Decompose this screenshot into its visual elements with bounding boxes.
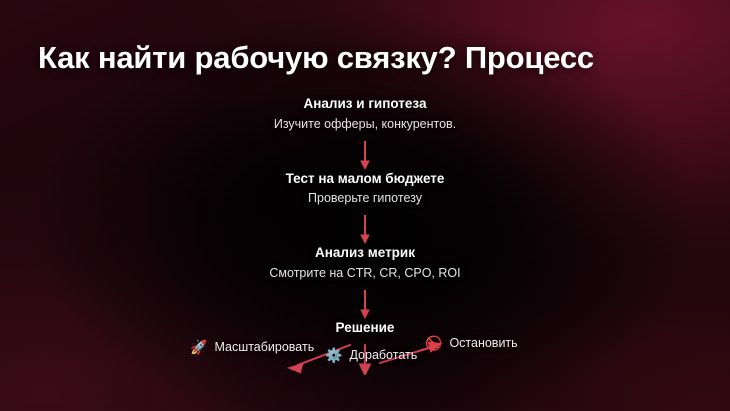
flow-step-test: Тест на малом бюджете Проверьте гипотезу [286,171,445,208]
option-scale[interactable]: 🚀 Масштабировать [190,340,314,354]
option-label: Доработать [349,348,417,362]
option-stop[interactable]: 🚫 Остановить [425,336,518,350]
flow-step-metrics: Анализ метрик Смотрите на CTR, CR, CPO, … [269,245,460,282]
flow-step-subtitle: Смотрите на CTR, CR, CPO, ROI [269,266,460,282]
flow-step-subtitle: Проверьте гипотезу [286,191,445,207]
prohibited-icon: 🚫 [425,336,442,350]
flow-step-title: Анализ и гипотеза [274,96,456,113]
arrow-down-icon-3 [356,290,374,320]
option-label: Масштабировать [214,340,314,354]
arrow-down-icon-1 [356,141,374,171]
rocket-icon: 🚀 [190,340,207,354]
decision-options: 🚀 Масштабировать ⚙️ Доработать 🚫 Останов… [0,334,730,380]
flow-step-subtitle: Изучите офферы, конкурентов. [274,117,456,133]
gear-icon: ⚙️ [325,348,342,362]
slide-canvas: Как найти рабочую связку? Процесс Анализ… [0,0,730,411]
flow-step-analysis: Анализ и гипотеза Изучите офферы, конкур… [274,96,456,133]
page-title: Как найти рабочую связку? Процесс [38,40,594,76]
arrow-down-icon-2 [356,215,374,245]
flow-step-title: Анализ метрик [269,245,460,262]
flow-step-title: Тест на малом бюджете [286,171,445,188]
option-label: Остановить [449,336,517,350]
option-refine[interactable]: ⚙️ Доработать [325,348,417,362]
